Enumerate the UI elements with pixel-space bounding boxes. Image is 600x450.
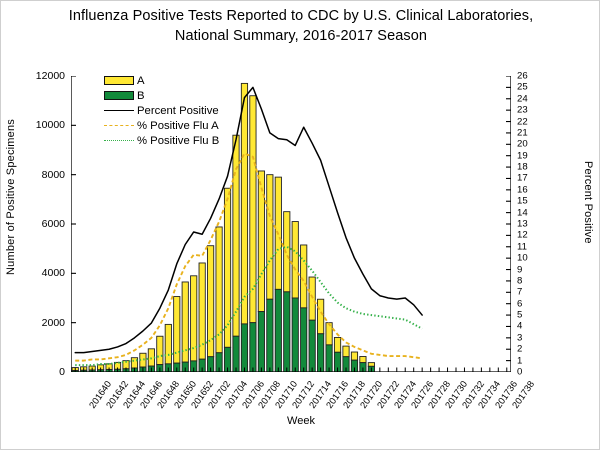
bar-flu-a: [292, 222, 298, 298]
bar-flu-a: [267, 175, 273, 300]
bar-flu-b: [233, 336, 239, 372]
y-axis-right-tick-label: 2: [517, 344, 522, 355]
bar-flu-a: [258, 171, 264, 312]
legend-item: % Positive Flu A: [104, 119, 219, 133]
bar-flu-a: [241, 83, 247, 324]
bar-flu-a: [343, 346, 349, 357]
y-axis-left-tick-label: 8000: [42, 169, 65, 181]
bar-flu-a: [216, 227, 222, 353]
bar-flu-a: [157, 336, 163, 364]
bar-flu-a: [351, 352, 357, 360]
legend-swatch: [104, 76, 134, 85]
legend-swatch: [104, 91, 134, 100]
bar-flu-b: [292, 298, 298, 372]
y-axis-right-tick-label: 3: [517, 332, 522, 343]
legend-item-label: % Positive Flu B: [137, 135, 219, 147]
y-axis-right-tick-label: 22: [517, 116, 528, 127]
bar-flu-b: [309, 320, 315, 372]
bar-flu-a: [301, 245, 307, 308]
y-axis-right-tick-label: 11: [517, 241, 527, 252]
y-axis-right-tick-label: 13: [517, 219, 528, 230]
bar-flu-b: [317, 334, 323, 372]
y-axis-right-tick-label: 16: [517, 184, 528, 195]
y-axis-right-tick-label: 15: [517, 196, 528, 207]
bar-flu-a: [174, 297, 180, 364]
legend-item-label: A: [137, 75, 145, 87]
legend-line-key: [104, 106, 134, 115]
chart-title-line-1: Influenza Positive Tests Reported to CDC…: [69, 8, 534, 24]
legend-item-label: Percent Positive: [137, 105, 219, 117]
x-axis-ticks: 2016402016422016442016462016482016502016…: [71, 375, 511, 421]
y-axis-right-tick-label: 18: [517, 162, 528, 173]
swatch-green-icon: [104, 91, 134, 100]
chart-title: Influenza Positive Tests Reported to CDC…: [1, 6, 600, 46]
bar-flu-a: [360, 356, 366, 362]
bar-flu-b: [250, 323, 256, 372]
legend-line-key: [104, 136, 134, 145]
y-axis-left-ticks: 020004000600080001000012000: [17, 76, 65, 372]
y-axis-right-tick-label: 25: [517, 82, 528, 93]
y-axis-right-tick-label: 21: [517, 127, 528, 138]
chart-figure: Influenza Positive Tests Reported to CDC…: [0, 0, 600, 450]
y-axis-right-tick-label: 20: [517, 139, 528, 150]
legend-item-label: B: [137, 90, 145, 102]
y-axis-left-tick-label: 6000: [42, 218, 65, 230]
bar-flu-a: [334, 337, 340, 352]
y-axis-right-tick-label: 10: [517, 253, 528, 264]
y-axis-right-tick-label: 1: [517, 355, 522, 366]
dotted-line-icon: [104, 140, 134, 141]
y-axis-right-tick-label: 8: [517, 275, 522, 286]
y-axis-left-tick-label: 10000: [36, 119, 65, 131]
y-axis-left-tick-label: 12000: [36, 70, 65, 82]
line-percent-flu-a: [75, 153, 422, 360]
y-axis-right-title: Percent Positive: [582, 161, 594, 244]
bar-flu-a: [233, 135, 239, 336]
bar-flu-b: [301, 308, 307, 372]
y-axis-right-tick-label: 14: [517, 207, 528, 218]
y-axis-left-tick-label: 4000: [42, 267, 65, 279]
bar-flu-b: [284, 292, 290, 372]
y-axis-right-tick-label: 0: [517, 367, 522, 378]
legend-item-label: % Positive Flu A: [137, 120, 219, 132]
y-axis-left-tick-label: 0: [59, 366, 65, 378]
chart-title-line-2: National Summary, 2016-2017 Season: [1, 26, 600, 46]
swatch-yellow-icon: [104, 76, 134, 85]
bar-flu-a: [165, 324, 171, 363]
bar-flu-a: [207, 246, 213, 357]
y-axis-right-tick-label: 6: [517, 298, 522, 309]
bar-flu-a: [368, 363, 374, 367]
y-axis-right-tick-label: 12: [517, 230, 528, 241]
legend-item: % Positive Flu B: [104, 134, 219, 148]
bar-flu-a: [317, 299, 323, 334]
bar-flu-b: [258, 312, 264, 372]
chart-legend: ABPercent Positive% Positive Flu A% Posi…: [104, 74, 219, 149]
dashed-line-icon: [104, 125, 134, 126]
bar-flu-a: [131, 358, 137, 368]
legend-item: B: [104, 89, 219, 103]
y-axis-right-tick-label: 23: [517, 105, 528, 116]
legend-line-key: [104, 121, 134, 130]
y-axis-right-tick-label: 26: [517, 71, 528, 82]
y-axis-right-tick-label: 17: [517, 173, 528, 184]
legend-item: A: [104, 74, 219, 88]
bar-flu-b: [275, 289, 281, 372]
y-axis-right-tick-label: 4: [517, 321, 522, 332]
line-percent-flu-b: [75, 247, 422, 365]
bar-flu-a: [326, 323, 332, 345]
y-axis-right-ticks: 0123456789101112131415161718192021222324…: [517, 76, 557, 372]
y-axis-right-tick-label: 19: [517, 150, 528, 161]
y-axis-left-tick-label: 2000: [42, 317, 65, 329]
solid-line-icon: [104, 110, 134, 111]
y-axis-right-tick-label: 7: [517, 287, 522, 298]
legend-item: Percent Positive: [104, 104, 219, 118]
y-axis-right-tick-label: 24: [517, 93, 528, 104]
bar-flu-b: [241, 324, 247, 372]
y-axis-right-tick-label: 9: [517, 264, 522, 275]
y-axis-right-tick-label: 5: [517, 310, 522, 321]
bar-flu-b: [267, 299, 273, 372]
